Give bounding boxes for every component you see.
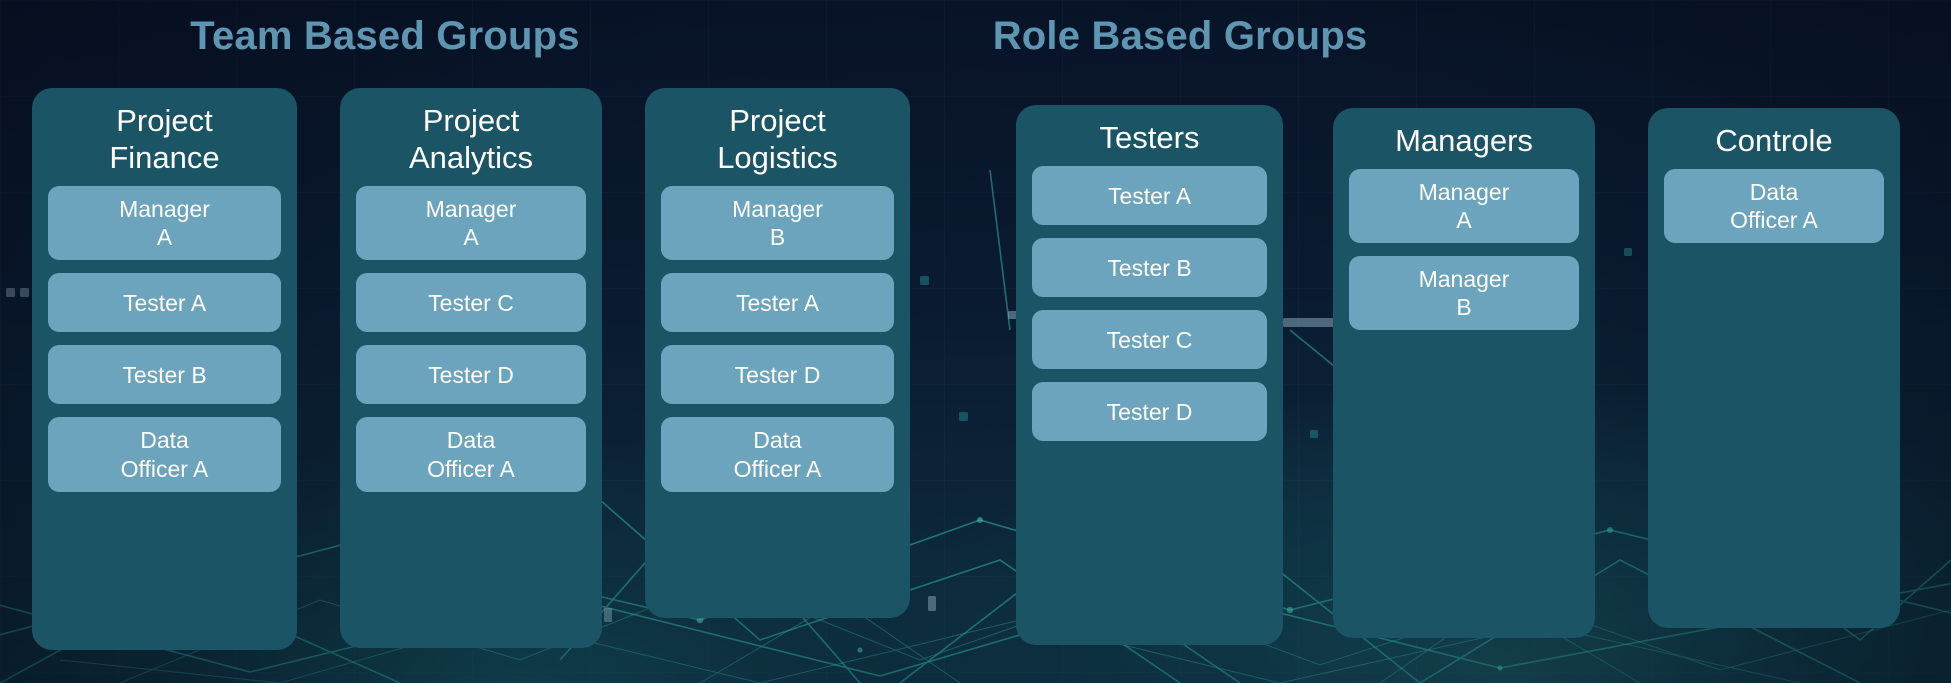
member-chip[interactable]: Tester C <box>356 273 586 332</box>
member-chip[interactable]: Manager A <box>356 186 586 260</box>
group-title: Project Logistics <box>645 102 910 176</box>
section-title-role-based: Role Based Groups <box>810 14 1550 59</box>
group-card-project-analytics[interactable]: Project AnalyticsManager ATester CTester… <box>340 88 602 648</box>
member-chip[interactable]: Tester C <box>1032 310 1267 369</box>
member-list: Manager ATester ATester BData Officer A <box>32 186 297 491</box>
member-list: Manager ATester CTester DData Officer A <box>340 186 602 491</box>
member-list: Data Officer A <box>1648 169 1900 243</box>
member-chip[interactable]: Tester A <box>661 273 894 332</box>
member-chip[interactable]: Manager B <box>661 186 894 260</box>
group-card-controle[interactable]: ControleData Officer A <box>1648 108 1900 628</box>
member-chip[interactable]: Manager A <box>48 186 281 260</box>
member-chip[interactable]: Data Officer A <box>1664 169 1884 243</box>
member-chip[interactable]: Data Officer A <box>48 417 281 491</box>
member-chip[interactable]: Data Officer A <box>356 417 586 491</box>
section-title-team-based: Team Based Groups <box>0 14 770 59</box>
member-chip[interactable]: Tester D <box>661 345 894 404</box>
member-list: Manager BTester ATester DData Officer A <box>645 186 910 491</box>
group-title: Project Analytics <box>340 102 602 176</box>
group-title: Testers <box>1016 119 1283 156</box>
member-chip[interactable]: Tester A <box>48 273 281 332</box>
group-card-project-finance[interactable]: Project FinanceManager ATester ATester B… <box>32 88 297 650</box>
member-chip[interactable]: Tester A <box>1032 166 1267 225</box>
group-card-managers[interactable]: ManagersManager AManager B <box>1333 108 1595 638</box>
member-chip[interactable]: Tester D <box>356 345 586 404</box>
group-title: Project Finance <box>32 102 297 176</box>
member-chip[interactable]: Tester B <box>1032 238 1267 297</box>
group-title: Controle <box>1648 122 1900 159</box>
group-title: Managers <box>1333 122 1595 159</box>
member-chip[interactable]: Manager A <box>1349 169 1579 243</box>
group-card-testers[interactable]: TestersTester ATester BTester CTester D <box>1016 105 1283 645</box>
member-list: Tester ATester BTester CTester D <box>1016 166 1283 441</box>
member-chip[interactable]: Tester D <box>1032 382 1267 441</box>
member-chip[interactable]: Data Officer A <box>661 417 894 491</box>
member-chip[interactable]: Tester B <box>48 345 281 404</box>
member-chip[interactable]: Manager B <box>1349 256 1579 330</box>
member-list: Manager AManager B <box>1333 169 1595 330</box>
group-card-project-logistics[interactable]: Project LogisticsManager BTester ATester… <box>645 88 910 618</box>
diagram-canvas: Team Based Groups Role Based Groups Proj… <box>0 0 1951 683</box>
